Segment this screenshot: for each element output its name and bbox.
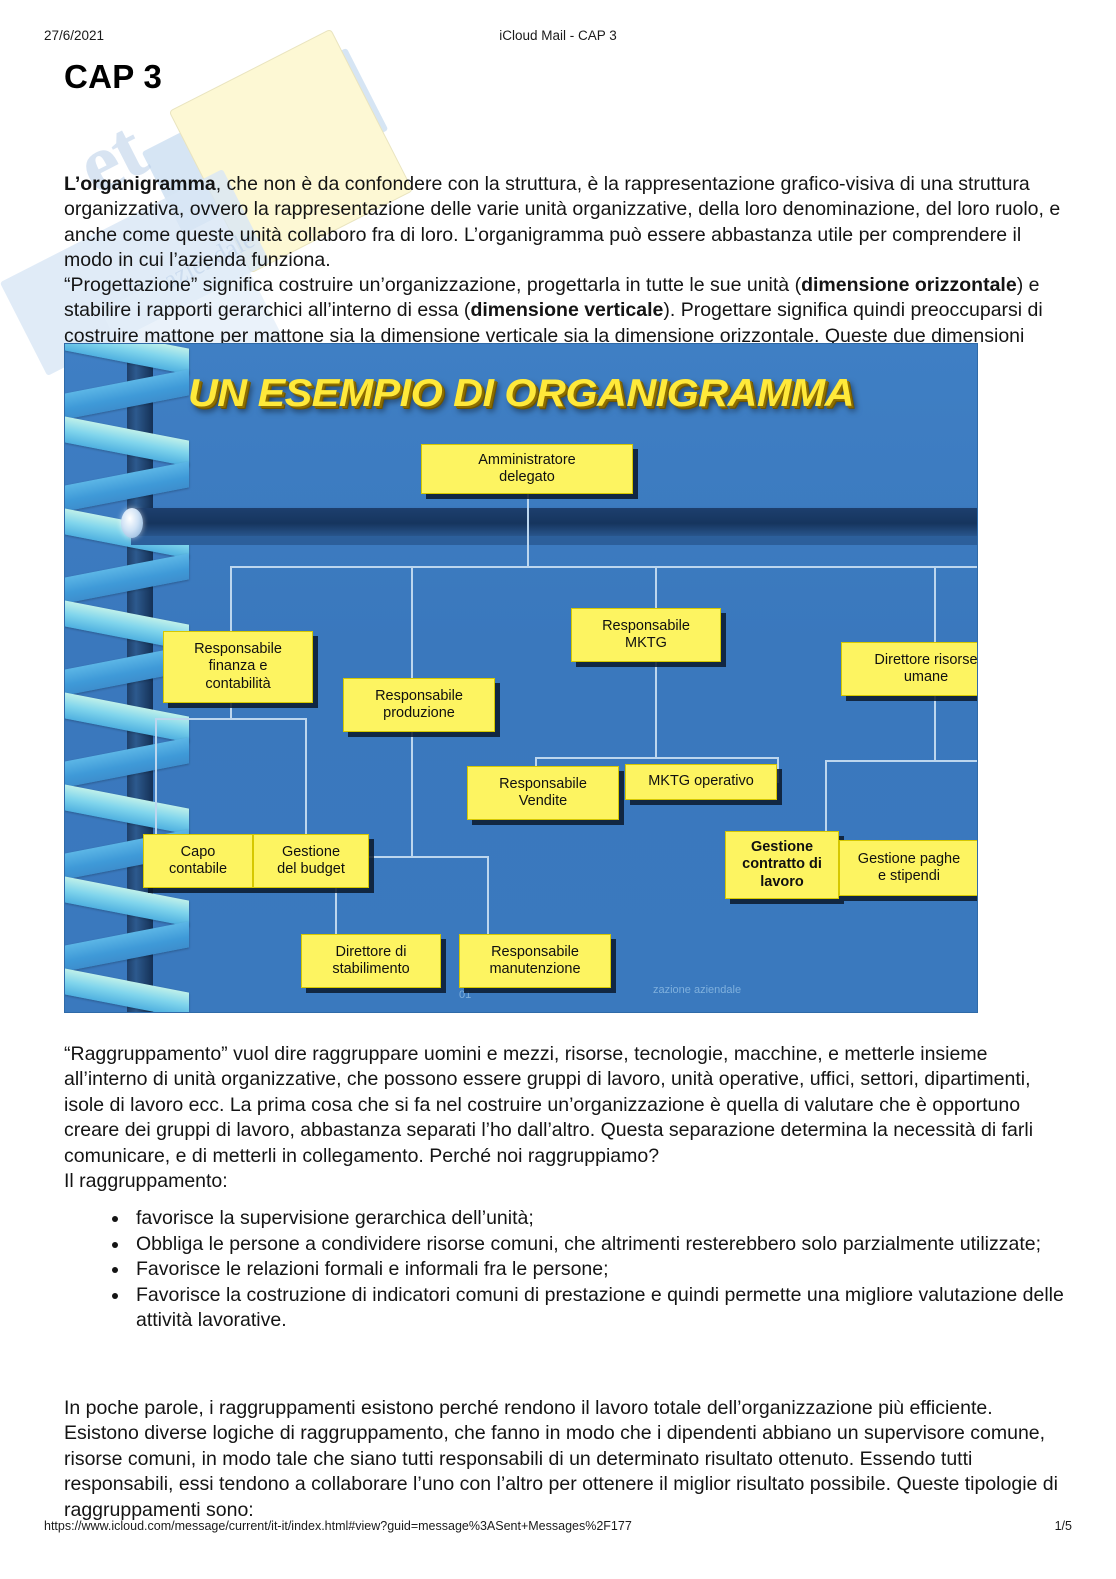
connector-line bbox=[655, 654, 657, 757]
footer-page-number: 1/5 bbox=[1055, 1519, 1072, 1533]
page-footer: https://www.icloud.com/message/current/i… bbox=[0, 1519, 1116, 1539]
org-box-label: Gestione contratto di lavoro bbox=[742, 839, 822, 892]
org-box-responsabile-produzione: Responsabile produzione bbox=[343, 678, 495, 732]
connector-line bbox=[825, 760, 978, 762]
org-box-label: Capo contabile bbox=[169, 844, 227, 879]
paragraph-organigramma: L’organigramma, che non è da confondere … bbox=[64, 172, 1066, 274]
org-box-label: Direttore risorse umane bbox=[874, 652, 977, 687]
org-box-label: Gestione paghe e stipendi bbox=[858, 851, 960, 886]
org-box-label: MKTG operativo bbox=[648, 773, 754, 791]
connector-line bbox=[305, 718, 307, 838]
org-box-mktg-operativo: MKTG operativo bbox=[625, 764, 777, 800]
org-box-label: Responsabile finanza e contabilità bbox=[194, 641, 282, 694]
connector-line bbox=[155, 718, 305, 720]
org-box-responsabile-vendite: Responsabile Vendite bbox=[467, 766, 619, 820]
org-box-label: Amministratore delegato bbox=[478, 452, 576, 487]
org-box-direttore-di-stabilimento: Direttore di stabilimento bbox=[301, 934, 441, 988]
connector-line bbox=[934, 566, 936, 650]
connector-line bbox=[527, 489, 529, 567]
connector-line bbox=[411, 756, 413, 856]
list-item: Obbliga le persone a condividere risorse… bbox=[130, 1232, 1110, 1258]
raggruppamento-benefits-list: favorisce la supervisione gerarchica del… bbox=[96, 1206, 1110, 1334]
list-item: Favorisce le relazioni formali e informa… bbox=[130, 1257, 1110, 1283]
org-box-label: Responsabile MKTG bbox=[602, 618, 690, 653]
list-item: Favorisce la costruzione di indicatori c… bbox=[130, 1283, 1110, 1334]
org-box-direttore-risorse-umane: Direttore risorse umane bbox=[841, 642, 978, 696]
org-box-label: Direttore di stabilimento bbox=[332, 944, 409, 979]
bold-organigramma: L’organigramma bbox=[64, 173, 216, 195]
list-item: favorisce la supervisione gerarchica del… bbox=[130, 1206, 1110, 1232]
slide-title: UN ESEMPIO DI ORGANIGRAMMA bbox=[64, 372, 978, 416]
connector-line bbox=[535, 757, 777, 759]
footer-url: https://www.icloud.com/message/current/i… bbox=[44, 1519, 632, 1533]
org-box-responsabile-mktg: Responsabile MKTG bbox=[571, 608, 721, 662]
connector-line bbox=[230, 706, 232, 718]
bold-dimensione-orizzontale: dimensione orizzontale bbox=[801, 274, 1017, 296]
connector-line bbox=[487, 856, 489, 934]
org-box-gestione-del-budget: Gestione del budget bbox=[253, 834, 369, 888]
connector-line bbox=[230, 566, 935, 568]
organigramma-slide-image: UN ESEMPIO DI ORGANIGRAMMA bbox=[64, 343, 978, 1013]
slide-divider-bar bbox=[131, 508, 978, 536]
paragraph-raggruppamento: “Raggruppamento” vuol dire raggruppare u… bbox=[64, 1042, 1066, 1196]
slide-divider-bar-shadow bbox=[131, 536, 978, 545]
connector-line bbox=[777, 757, 779, 783]
slide-faint-footer-text: zazione aziendale bbox=[653, 984, 741, 996]
page-header: 27/6/2021 iCloud Mail - CAP 3 bbox=[0, 28, 1116, 48]
header-title: iCloud Mail - CAP 3 bbox=[0, 28, 1116, 43]
org-box-label: Gestione del budget bbox=[277, 844, 345, 879]
org-box-gestione-contratto-di-lavoro: Gestione contratto di lavoro bbox=[725, 831, 839, 899]
org-box-capo-contabile: Capo contabile bbox=[143, 834, 253, 888]
org-box-label: Responsabile Vendite bbox=[499, 776, 587, 811]
org-box-gestione-paghe-e-stipendi: Gestione paghe e stipendi bbox=[839, 840, 978, 896]
paragraph-conclusione: In poche parole, i raggruppamenti esisto… bbox=[64, 1396, 1066, 1524]
org-box-label: Responsabile manutenzione bbox=[489, 944, 580, 979]
org-box-label: Responsabile produzione bbox=[375, 688, 463, 723]
connector-line bbox=[155, 718, 157, 838]
slide-divider-knob bbox=[121, 508, 143, 538]
page-title: CAP 3 bbox=[64, 58, 162, 96]
org-box-responsabile-manutenzione: Responsabile manutenzione bbox=[459, 934, 611, 988]
org-box-amministratore-delegato: Amministratore delegato bbox=[421, 444, 633, 494]
connector-line bbox=[655, 566, 657, 614]
slide-faint-left-text: 01 bbox=[459, 989, 471, 1001]
org-box-responsabile-finanza-contabilita: Responsabile finanza e contabilità bbox=[163, 631, 313, 703]
bold-dimensione-verticale: dimensione verticale bbox=[470, 299, 663, 321]
document-page: et aziendale 27/6/2021 iCloud Mail - CAP… bbox=[0, 0, 1116, 1579]
p2-segment-a: “Progettazione” significa costruire un’o… bbox=[64, 274, 801, 296]
